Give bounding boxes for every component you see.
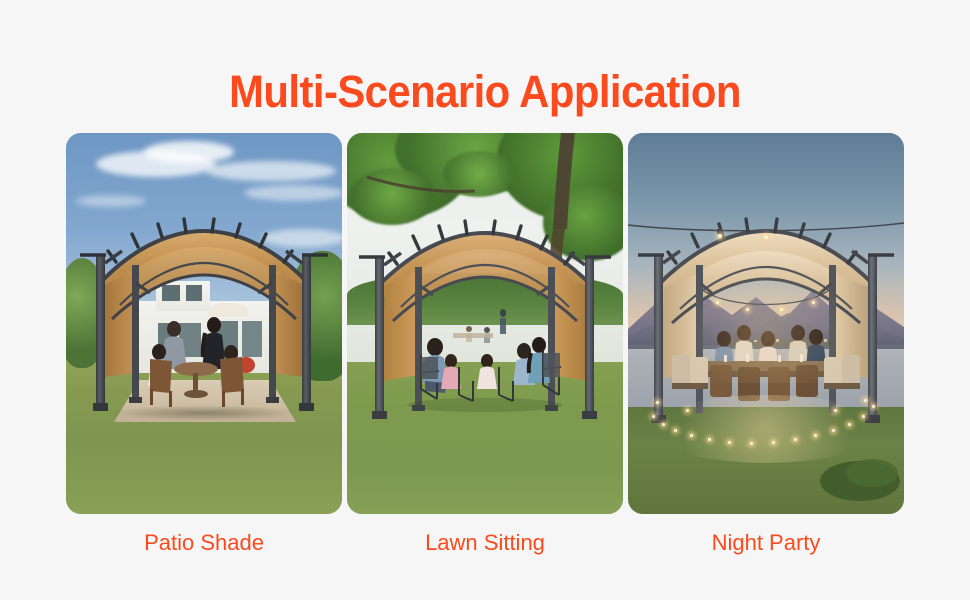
people-group — [423, 337, 550, 393]
shadow — [106, 405, 302, 421]
hanging-bulb — [812, 301, 815, 304]
warm-glow — [684, 263, 854, 383]
page-title: Multi-Scenario Application — [34, 66, 936, 118]
scenario-card-patio-shade — [66, 133, 342, 514]
scenario-card-night-party — [628, 133, 904, 514]
scenario-image-patio-shade — [66, 133, 342, 514]
scenario-image-lawn-sitting — [347, 133, 623, 514]
marketing-banner: Multi-Scenario Application — [0, 0, 970, 600]
hanging-bulb — [746, 308, 749, 311]
scenario-card-lawn-sitting — [347, 133, 623, 514]
caption-night-party: Night Party — [628, 528, 904, 562]
ground-light-glow — [650, 395, 882, 463]
distant-people — [453, 309, 506, 343]
patio-furniture — [150, 357, 244, 407]
string-light-bulb — [764, 235, 768, 239]
scenario-gallery — [66, 133, 904, 514]
pergola-structure — [66, 133, 342, 514]
caption-row: Patio Shade Lawn Sitting Night Party — [66, 528, 904, 562]
scenario-image-night-party — [628, 133, 904, 514]
caption-patio-shade: Patio Shade — [66, 528, 342, 562]
string-light-bulb — [718, 234, 722, 238]
hanging-bulb — [780, 308, 783, 311]
hanging-bulb — [716, 301, 719, 304]
caption-lawn-sitting: Lawn Sitting — [347, 528, 623, 562]
pergola-structure — [347, 133, 623, 514]
